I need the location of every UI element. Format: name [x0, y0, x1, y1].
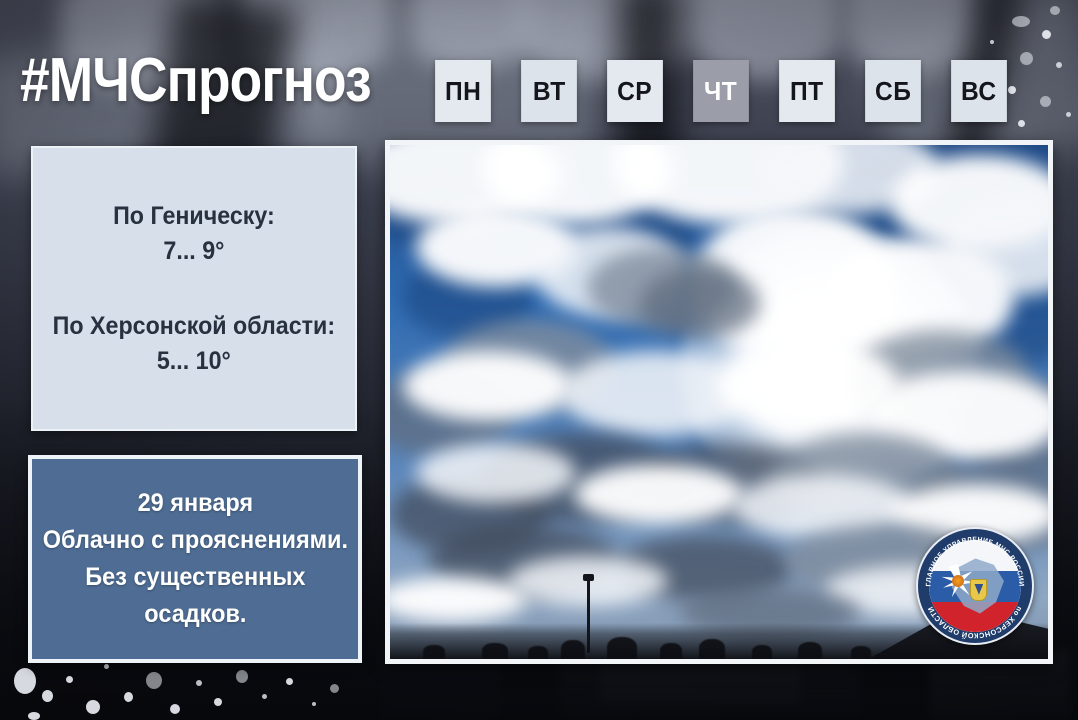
tab-sunday[interactable]: ВС [951, 60, 1007, 122]
cloud [403, 351, 573, 421]
tab-tuesday[interactable]: ВТ [521, 60, 577, 122]
paint-splatter [262, 694, 267, 699]
temperature-panel: По Геническу: 7... 9° По Херсонской обла… [31, 146, 357, 431]
tab-label: СБ [875, 76, 911, 107]
paint-splatter [1018, 120, 1025, 127]
paint-splatter [236, 670, 248, 683]
paint-splatter [196, 680, 202, 686]
paint-splatter [214, 698, 222, 706]
paint-splatter [86, 700, 100, 714]
conditions-text: 29 января Облачно с прояснениями. Без су… [42, 485, 347, 633]
paint-splatter [28, 712, 40, 720]
tab-monday[interactable]: ПН [435, 60, 491, 122]
location-label: По Геническу: [113, 202, 275, 230]
mchs-emblem: ГЛАВНОЕ УПРАВЛЕНИЕ МЧС РОССИИ по ХЕРСОНС… [916, 527, 1034, 645]
cloud [390, 577, 527, 622]
conditions-line-1: Облачно с прояснениями. [42, 522, 347, 559]
cloud [416, 443, 576, 503]
tab-wednesday[interactable]: СР [607, 60, 663, 122]
cloud-shadow [640, 268, 760, 338]
paint-splatter [66, 676, 73, 683]
paint-splatter [170, 704, 180, 714]
tab-label: СР [617, 76, 652, 107]
paint-splatter [1050, 6, 1060, 15]
temperature-value: 5... 10° [53, 344, 335, 379]
paint-splatter [1066, 112, 1071, 117]
paint-splatter [312, 702, 316, 706]
cloud [574, 464, 744, 524]
paint-splatter [14, 668, 36, 694]
paint-splatter [1012, 16, 1030, 27]
page-title: #МЧСпрогноз [20, 50, 371, 112]
paint-splatter [990, 40, 994, 44]
tab-thursday[interactable]: ЧТ [693, 60, 749, 122]
photo-frame: ГЛАВНОЕ УПРАВЛЕНИЕ МЧС РОССИИ по ХЕРСОНС… [385, 140, 1053, 664]
paint-splatter [146, 672, 162, 689]
conditions-line-2: Без существенных [42, 559, 347, 596]
shield-icon [970, 579, 987, 601]
conditions-panel: 29 января Облачно с прояснениями. Без су… [28, 455, 362, 663]
emblem-inner [929, 540, 1021, 632]
tab-label: ПТ [790, 76, 824, 107]
paint-splatter [42, 690, 53, 702]
temperature-entry-genichesk: По Геническу: 7... 9° [113, 199, 275, 269]
tab-saturday[interactable]: СБ [865, 60, 921, 122]
paint-splatter [330, 684, 339, 693]
paint-splatter [1040, 96, 1051, 107]
paint-splatter [124, 692, 133, 702]
forecast-card: #МЧСпрогноз ПН ВТ СР ЧТ ПТ СБ ВС По Гени… [0, 0, 1078, 720]
paint-splatter [1042, 30, 1051, 39]
tab-label: ЧТ [704, 76, 737, 107]
paint-splatter [104, 664, 109, 669]
conditions-line-3: осадков. [42, 596, 347, 633]
lamppost-head [583, 574, 594, 581]
paint-splatter [1056, 62, 1062, 68]
temperature-value: 7... 9° [113, 234, 275, 269]
paint-splatter [286, 678, 293, 685]
sky-photo: ГЛАВНОЕ УПРАВЛЕНИЕ МЧС РОССИИ по ХЕРСОНС… [390, 145, 1048, 659]
tab-label: ПН [445, 76, 481, 107]
paint-splatter [1020, 52, 1033, 65]
temperature-entry-kherson-region: По Херсонской области: 5... 10° [53, 309, 335, 379]
tab-label: ВТ [533, 76, 566, 107]
weekday-tabs[interactable]: ПН ВТ СР ЧТ ПТ СБ ВС [432, 60, 1010, 122]
tab-friday[interactable]: ПТ [779, 60, 835, 122]
forecast-date: 29 января [42, 485, 347, 522]
star-core-icon [952, 575, 964, 587]
tab-label: ВС [961, 76, 996, 107]
location-label: По Херсонской области: [53, 312, 335, 340]
